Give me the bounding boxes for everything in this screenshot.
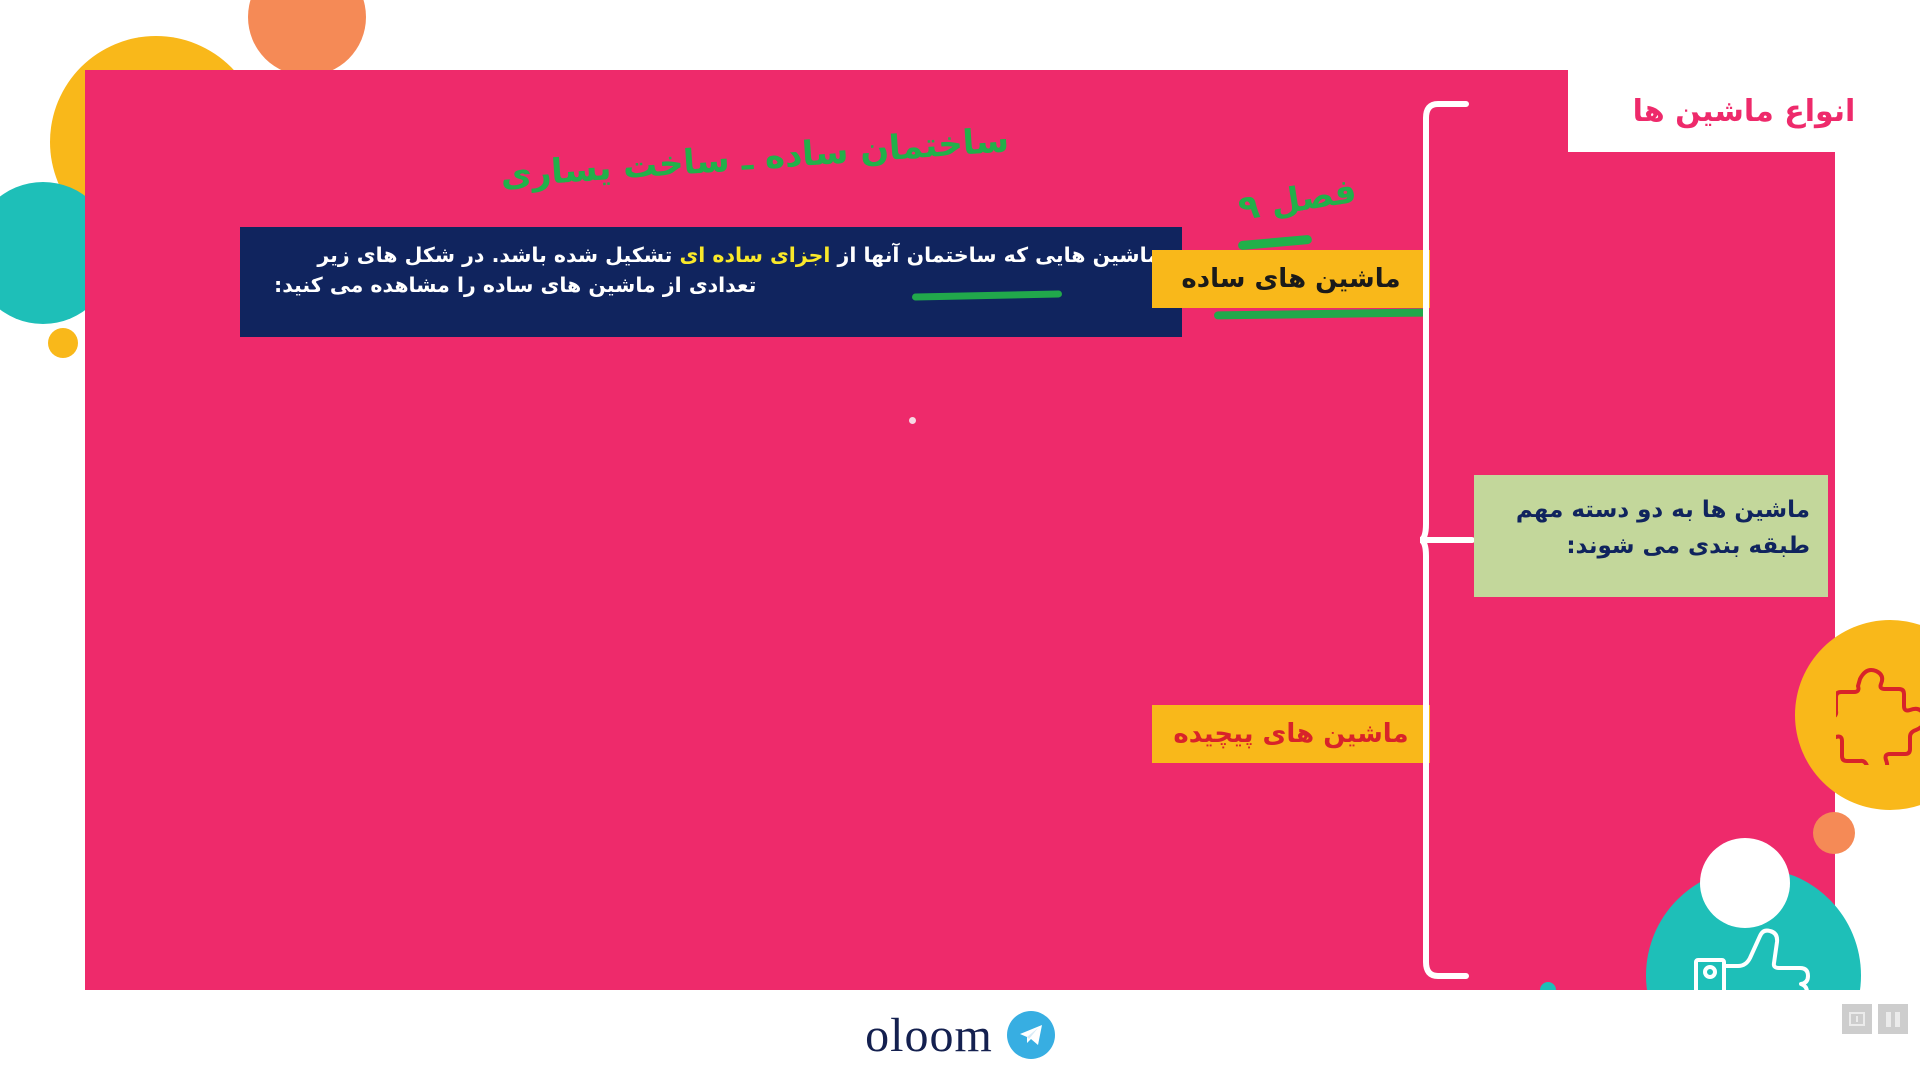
decor-circle-yellow-dot	[48, 328, 78, 358]
explanation-text-part1: ماشین هایی که ساختمان آنها از	[830, 243, 1160, 267]
classification-line-2: طبقه بندی می شوند:	[1492, 529, 1810, 565]
page-title: انواع ماشین ها	[1633, 94, 1856, 129]
puzzle-piece-icon	[1836, 665, 1920, 765]
brand-name: oloom	[865, 1008, 993, 1063]
decor-circle-orange-top	[248, 0, 366, 76]
grouping-brace	[1420, 100, 1474, 980]
category-box-simple-machines[interactable]: ماشین های ساده	[1152, 250, 1430, 308]
decor-circle-white-bottom-right	[1700, 838, 1790, 928]
pause-button[interactable]	[1878, 1004, 1908, 1034]
footer-bar: oloom	[0, 990, 1920, 1080]
fullscreen-icon	[1849, 1011, 1865, 1027]
category-box-complex-machines[interactable]: ماشین های پیچیده	[1152, 705, 1430, 763]
explanation-highlight: اجزای ساده ای	[679, 243, 830, 267]
explanation-box: ماشین هایی که ساختمان آنها از اجزای ساده…	[240, 227, 1182, 337]
explanation-text-part2: تشکیل شده باشد. در شکل های زیر	[317, 243, 679, 267]
dot-artifact	[909, 417, 916, 424]
classification-line-1: ماشین ها به دو دسته مهم	[1492, 493, 1810, 529]
player-controls[interactable]	[1842, 1004, 1908, 1034]
telegram-icon	[1007, 1011, 1055, 1059]
classification-box: ماشین ها به دو دسته مهم طبقه بندی می شون…	[1474, 475, 1828, 597]
explanation-line-1: ماشین هایی که ساختمان آنها از اجزای ساده…	[262, 241, 1160, 271]
pause-icon	[1895, 1012, 1900, 1027]
title-plate: انواع ماشین ها	[1568, 70, 1920, 152]
fullscreen-button[interactable]	[1842, 1004, 1872, 1034]
slide-canvas: انواع ماشین ها ساختمان ساده ـ ساخت یساری…	[0, 0, 1920, 1080]
decor-circle-orange-small	[1813, 812, 1855, 854]
